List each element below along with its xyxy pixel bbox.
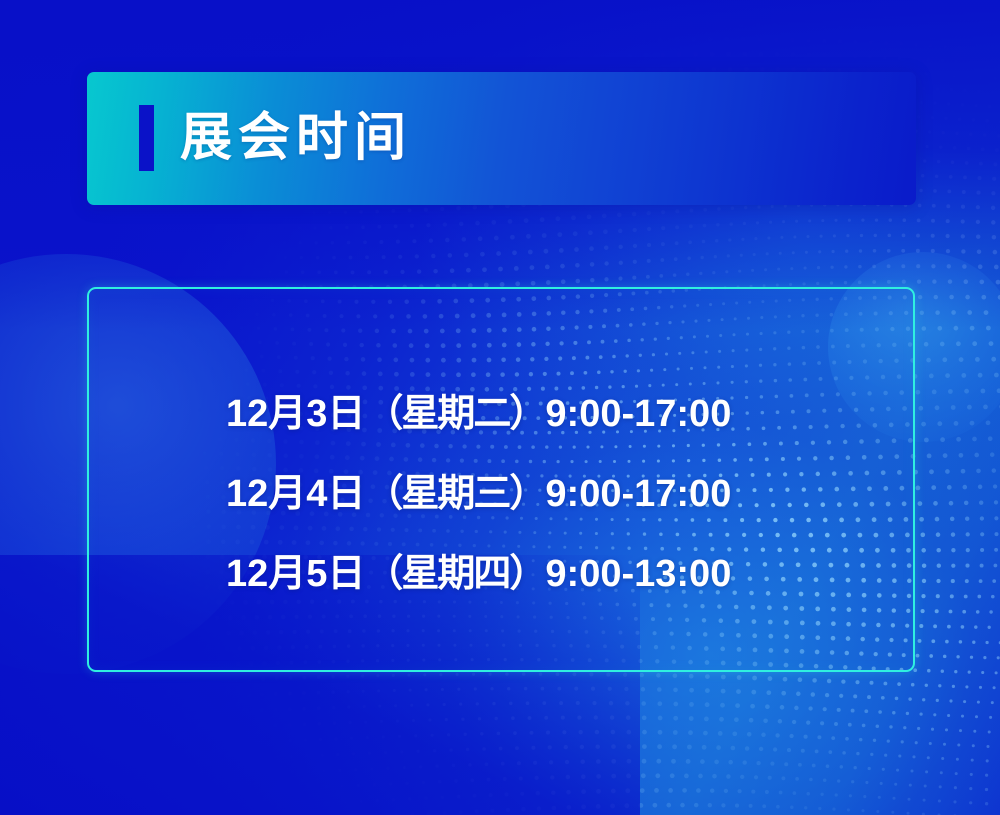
schedule-row: 12月4日（星期三）9:00-17:00 [226, 454, 786, 534]
poster-canvas: 展会时间 12月3日（星期二）9:00-17:00 12月4日（星期三）9:00… [0, 0, 1000, 815]
schedule-weekday: （星期二） [365, 393, 545, 435]
schedule-date: 12月4日 [226, 473, 365, 515]
schedule-time: 9:00-17:00 [545, 473, 731, 515]
schedule-list: 12月3日（星期二）9:00-17:00 12月4日（星期三）9:00-17:0… [226, 374, 786, 614]
schedule-date: 12月5日 [226, 553, 365, 595]
schedule-weekday: （星期四） [365, 553, 545, 595]
schedule-row: 12月5日（星期四）9:00-13:00 [226, 534, 786, 614]
schedule-row: 12月3日（星期二）9:00-17:00 [226, 374, 786, 454]
banner-accent-bar [139, 105, 154, 171]
schedule-date: 12月3日 [226, 393, 365, 435]
schedule-time: 9:00-13:00 [545, 553, 731, 595]
schedule-time: 9:00-17:00 [545, 393, 731, 435]
page-title: 展会时间 [180, 99, 412, 177]
section-header-banner: 展会时间 [87, 72, 916, 205]
schedule-weekday: （星期三） [365, 473, 545, 515]
